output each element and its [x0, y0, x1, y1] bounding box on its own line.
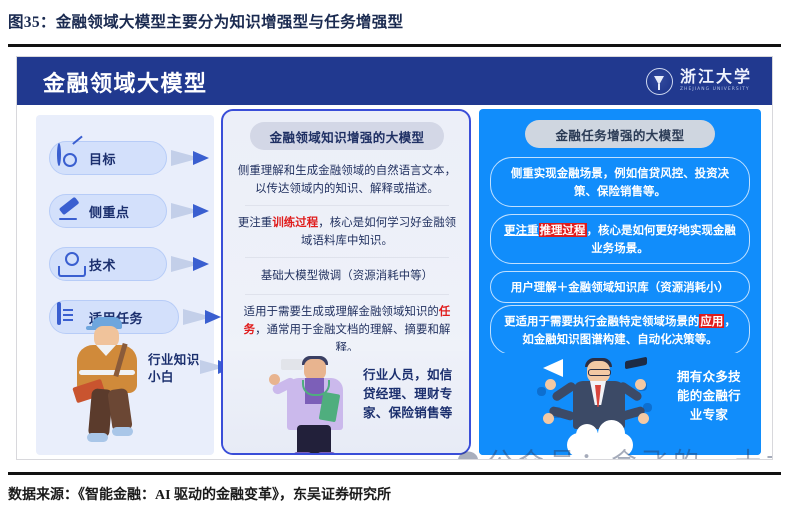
- right-persona-label: 拥有众多技能的金融行业专家: [675, 367, 743, 424]
- knowledge-row-text: 基础大模型微调（资源消耗中等）: [261, 268, 433, 282]
- knowledge-row-text: 更注重训练过程，核心是如何学习好金融领域语料库中知识。: [238, 215, 456, 247]
- graduation-cap-icon: [625, 357, 647, 370]
- target-icon: [57, 145, 83, 171]
- left-aspect-column: 目标 侧重点 技术: [36, 115, 214, 455]
- card-header: 金融领域大模型 浙江大学 ZHEJIANG UNIVERSITY: [17, 57, 773, 105]
- aspect-label: 侧重点: [89, 202, 130, 221]
- zhejiang-university-logo: 浙江大学 ZHEJIANG UNIVERSITY: [646, 67, 752, 95]
- pencil-icon: [57, 198, 83, 224]
- task-row-text: 更注重推理过程，核心是如何更好地实现金融业务场景。: [504, 223, 736, 255]
- middle-persona-label: 行业人员，如信贷经理、理财专家、保险销售等: [363, 365, 459, 422]
- knowledge-row-text: 侧重理解和生成金融领域的自然语言文本，以传达领域内的知识、解释或描述。: [238, 163, 456, 195]
- aspect-label: 目标: [89, 149, 116, 168]
- figure-caption: 图35：金融领域大模型主要分为知识增强型与任务增强型: [8, 10, 778, 40]
- university-logo-text: 浙江大学 ZHEJIANG UNIVERSITY: [680, 69, 752, 92]
- knowledge-enhanced-panel: 金融领域知识增强的大模型 侧重理解和生成金融领域的自然语言文本，以传达领域内的知…: [221, 109, 471, 455]
- highlight-inference-process: 推理过程: [539, 223, 587, 237]
- caption-divider-top: [8, 44, 781, 47]
- card-body: 目标 侧重点 技术: [17, 105, 773, 460]
- knowledge-row-text: 适用于需要生成或理解金融领域知识的任务，通常用于金融文档的理解、摘要和解释。: [244, 304, 451, 354]
- middle-persona-illustration: 行业人员，如信贷经理、理财专家、保险销售等: [223, 351, 469, 453]
- arrow-right-icon-0: [171, 147, 211, 169]
- task-enhanced-panel: 金融任务增强的大模型 侧重实现金融场景，例如信贷风控、投资决策、保险销售等。 更…: [479, 109, 761, 455]
- left-persona-label: 行业知识小白: [148, 351, 200, 385]
- professional-figure-icon: [271, 353, 357, 453]
- university-crest-icon: [646, 68, 673, 95]
- arrow-right-icon-2: [171, 253, 211, 275]
- task-row-text: 用户理解＋金融领域知识库（资源消耗小）: [511, 280, 729, 294]
- knowledge-panel-title: 金融领域知识增强的大模型: [250, 122, 444, 150]
- right-persona-illustration: 拥有众多技能的金融行业专家: [479, 353, 761, 455]
- divider: [245, 205, 449, 206]
- highlight-task: 任务: [244, 304, 451, 336]
- knowledge-row-0: 侧重理解和生成金融领域的自然语言文本，以传达领域内的知识、解释或描述。: [236, 161, 458, 197]
- knowledge-row-2: 基础大模型微调（资源消耗中等）: [236, 266, 458, 284]
- megaphone-icon: [543, 359, 563, 377]
- left-persona-illustration: 行业知识小白: [50, 311, 210, 451]
- card-title: 金融领域大模型: [43, 66, 208, 98]
- figure-source: 数据来源：《智能金融：AI 驱动的金融变革》，东吴证券研究所: [8, 484, 778, 504]
- task-row-text: 更适用于需要执行金融特定领域场景的应用，如金融知识图谱构建、自动化决策等。: [504, 314, 736, 346]
- task-row-3: 更适用于需要执行金融特定领域场景的应用，如金融知识图谱构建、自动化决策等。: [490, 305, 750, 355]
- aspect-row-1: 侧重点: [49, 194, 211, 228]
- aspect-row-2: 技术: [49, 247, 211, 281]
- task-row-2: 用户理解＋金融领域知识库（资源消耗小）: [490, 271, 750, 303]
- aspect-pill-focus[interactable]: 侧重点: [49, 194, 167, 228]
- caption-divider-bottom: [8, 472, 781, 475]
- task-panel-title: 金融任务增强的大模型: [525, 120, 715, 148]
- highlight-train-process: 训练过程: [272, 215, 318, 229]
- arrow-right-icon-1: [171, 200, 211, 222]
- aspect-pill-target[interactable]: 目标: [49, 141, 167, 175]
- highlight-application: 应用: [699, 314, 724, 328]
- aspect-row-0: 目标: [49, 141, 211, 175]
- task-row-text: 侧重实现金融场景，例如信贷风控、投资决策、保险销售等。: [511, 166, 729, 198]
- figure-image-card: 金融领域大模型 浙江大学 ZHEJIANG UNIVERSITY 目标: [16, 56, 773, 460]
- student-figure-icon: [66, 317, 150, 445]
- divider: [245, 294, 449, 295]
- expert-figure-icon: [537, 351, 657, 455]
- university-name-en: ZHEJIANG UNIVERSITY: [680, 88, 752, 92]
- knowledge-row-1: 更注重训练过程，核心是如何学习好金融领域语料库中知识。: [236, 213, 458, 249]
- university-name-cn: 浙江大学: [680, 69, 752, 85]
- knowledge-row-3: 适用于需要生成或理解金融领域知识的任务，通常用于金融文档的理解、摘要和解释。: [236, 302, 458, 356]
- aspect-pill-technology[interactable]: 技术: [49, 247, 167, 281]
- network-icon: [57, 251, 83, 277]
- divider: [245, 257, 449, 258]
- task-row-0: 侧重实现金融场景，例如信贷风控、投资决策、保险销售等。: [490, 157, 750, 207]
- task-row-1: 更注重推理过程，核心是如何更好地实现金融业务场景。: [490, 214, 750, 264]
- aspect-label: 技术: [89, 255, 116, 274]
